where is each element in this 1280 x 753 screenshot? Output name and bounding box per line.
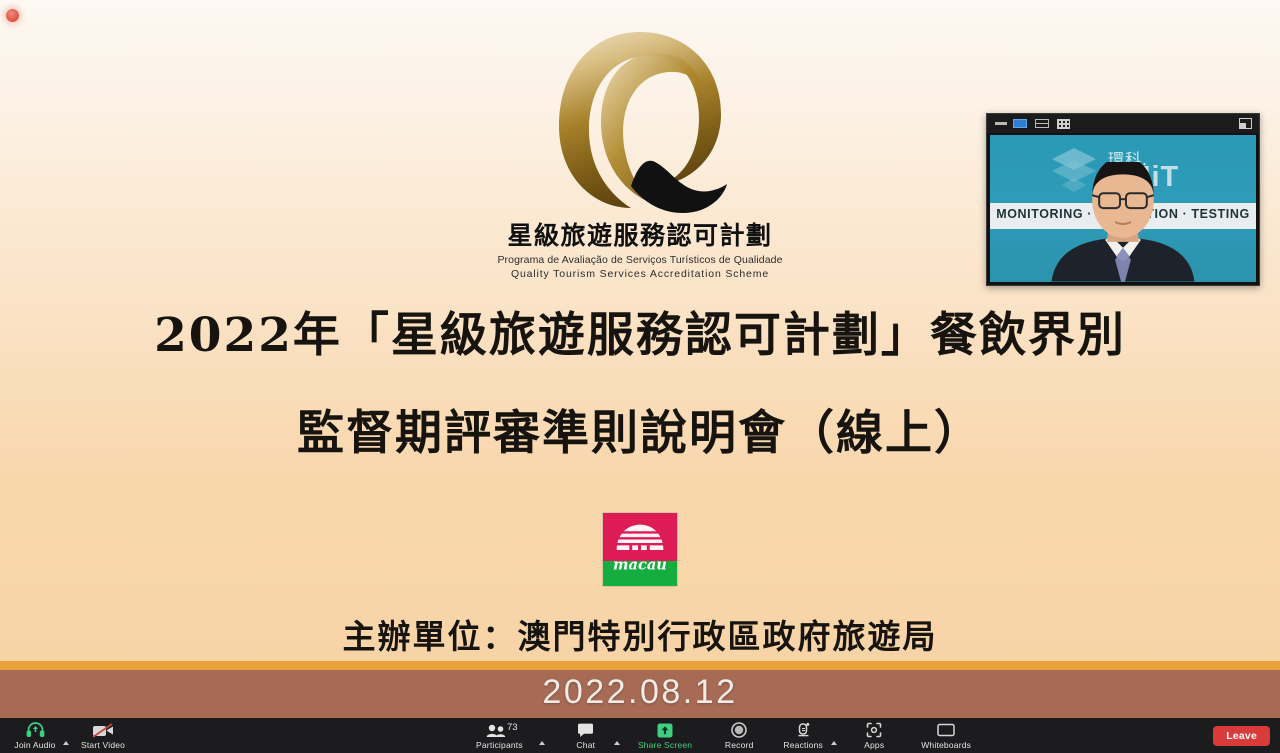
qts-q-mark-icon xyxy=(545,26,735,224)
audio-options-caret-icon[interactable] xyxy=(63,741,69,745)
join-audio-label: Join Audio xyxy=(14,740,55,750)
apps-icon xyxy=(866,722,882,738)
join-audio-button[interactable]: Join Audio xyxy=(8,718,62,753)
grid-view-icon[interactable] xyxy=(1057,119,1070,129)
chat-button[interactable]: Chat xyxy=(559,718,613,753)
video-off-icon xyxy=(92,722,114,738)
start-video-button[interactable]: Start Video xyxy=(75,718,131,753)
participants-button[interactable]: Participants 73 xyxy=(470,718,529,753)
svg-text:macau: macau xyxy=(613,556,667,573)
slide-date: 2022.08.12 xyxy=(0,673,1280,712)
speaker-video-panel[interactable]: 環科. EMiT MONITORING · INSPECTION · TESTI… xyxy=(986,113,1260,286)
speaker-view-icon[interactable] xyxy=(1013,119,1027,128)
qts-logo-english: Quality Tourism Services Accreditation S… xyxy=(511,268,769,280)
toolbar-right-group: Leave xyxy=(1213,726,1270,746)
start-video-label: Start Video xyxy=(81,740,125,750)
chat-icon xyxy=(577,722,594,738)
leave-button[interactable]: Leave xyxy=(1213,726,1270,746)
reactions-caret-icon[interactable] xyxy=(831,741,837,745)
participants-caret-icon[interactable] xyxy=(539,741,545,745)
qts-logo-chinese: 星級旅遊服務認可計劃 xyxy=(507,222,772,250)
video-panel-toolbar[interactable] xyxy=(987,114,1259,133)
whiteboards-button[interactable]: Whiteboards xyxy=(915,718,977,753)
qts-logo-portuguese: Programa de Avaliação de Serviços Turíst… xyxy=(497,254,782,266)
toolbar-left-group: Join Audio Start Video xyxy=(8,718,131,753)
apps-button[interactable]: Apps xyxy=(847,718,901,753)
chat-caret-icon[interactable] xyxy=(614,741,620,745)
share-screen-label: Share Screen xyxy=(638,740,692,750)
popout-icon[interactable] xyxy=(1239,118,1252,129)
reactions-icon xyxy=(796,722,811,738)
record-icon xyxy=(731,722,747,738)
gallery-view-icon[interactable] xyxy=(1035,119,1049,128)
slide-orange-band xyxy=(0,661,1280,670)
slide-organizer-line: 主辦單位：澳門特別行政區政府旅遊局 xyxy=(0,610,1280,658)
whiteboards-label: Whiteboards xyxy=(921,740,971,750)
share-screen-button[interactable]: Share Screen xyxy=(632,718,698,753)
macau-tourism-logo-icon: macau xyxy=(602,512,678,587)
recording-indicator-icon xyxy=(6,9,19,22)
slide-title-line-1: 2022年「星級旅遊服務認可計劃」餐飲界別 xyxy=(0,296,1280,365)
record-button[interactable]: Record xyxy=(712,718,766,753)
reactions-label: Reactions xyxy=(783,740,823,750)
headset-icon xyxy=(26,722,45,738)
apps-label: Apps xyxy=(864,740,884,750)
chat-label: Chat xyxy=(576,740,595,750)
video-feed: 環科. EMiT MONITORING · INSPECTION · TESTI… xyxy=(990,135,1256,282)
slide-title-line-2: 監督期評審準則說明會（線上） xyxy=(0,394,1280,463)
reactions-button[interactable]: Reactions xyxy=(776,718,830,753)
share-screen-icon xyxy=(657,722,673,738)
participants-label: Participants xyxy=(476,740,523,750)
record-label: Record xyxy=(725,740,754,750)
zoom-toolbar: Join Audio Start Video xyxy=(0,718,1280,753)
toolbar-center-group: Participants 73 Chat Share Screen xyxy=(470,718,977,753)
whiteboard-icon xyxy=(937,722,955,738)
participant-video-image xyxy=(990,162,1256,282)
minimize-icon[interactable] xyxy=(995,119,1007,125)
participants-count: 73 xyxy=(507,722,518,733)
shared-screen-slide: 星級旅遊服務認可計劃 Programa de Avaliação de Serv… xyxy=(0,0,1280,718)
